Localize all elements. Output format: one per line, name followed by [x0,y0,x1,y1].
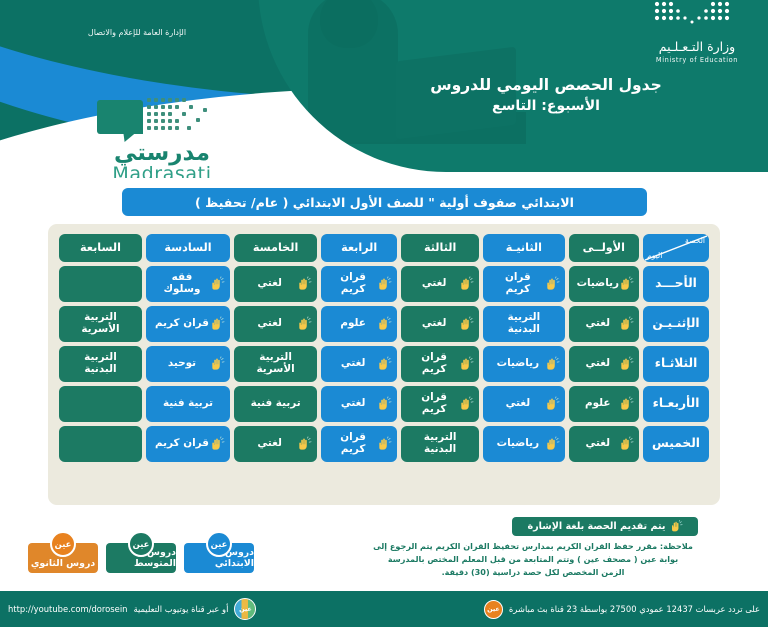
sign-language-hand-icon [619,317,634,332]
subject-cell: لغتي [569,306,639,342]
sign-language-hand-icon [210,357,225,372]
ein-channel-button-1[interactable]: عيندروس الابتدائي [184,543,254,573]
subject-cell: التربية البدنية [401,426,479,462]
sign-language-hand-icon [619,437,634,452]
subject-label: التربية الأسرية [239,352,312,375]
subject-cell: تربية فنية [234,386,317,422]
madrasati-name-en: Madrasati [72,165,252,178]
subject-label: علوم [337,318,380,330]
period-header-6: السادسة [146,234,230,262]
day-cell-1: الأحـــد [643,266,709,302]
subject-cell: رياضيات [569,266,639,302]
subject-label: لغتي [419,278,462,290]
subject-cell: التربية الأسرية [59,306,142,342]
subject-cell: علوم [321,306,397,342]
empty-cell [59,266,142,302]
schedule-card: الحصةاليومالأولــىالثانيـةالثالثةالرابعة… [48,224,720,505]
subject-cell: قران كريم [401,386,479,422]
subject-cell: لغتي [234,266,317,302]
day-cell-3: الثلاثـاء [643,346,709,382]
subject-label: لغتي [338,358,381,370]
subject-cell: تربية فنية [146,386,230,422]
period-header-7: السابعة [59,234,142,262]
subject-cell: قران كريم [321,426,397,462]
corner-period-label: الحصة [685,234,705,247]
ein-channel-button-3[interactable]: عيندروس الثانوي [28,543,98,573]
ein-channel-button-2[interactable]: عيندروس المتوسط [106,543,176,573]
sign-language-hand-icon [459,317,474,332]
sign-language-note-text: يتم تقديم الحصة بلغة الإشارة [527,521,665,532]
table-row: الأربعـاءعلوملغتيقران كريملغتيتربية فنية… [59,386,709,422]
sign-language-hand-icon [545,397,560,412]
period-header-4: الرابعة [321,234,397,262]
sign-language-hand-icon [377,397,392,412]
ministry-name-ar: وزارة التـعـلـيم [642,40,752,54]
table-row: الإثنـيـنلغتيالتربية البدنيةلغتيعلوملغتي… [59,306,709,342]
week-label: الأسبوع: التاسع [346,96,746,116]
subject-cell: فقه وسلوك [146,266,230,302]
subject-cell: التربية البدنية [483,306,564,342]
subject-cell: التربية الأسرية [234,346,317,382]
subject-cell: قران كريم [483,266,564,302]
ein-badge-icon: عين [128,531,154,557]
subject-cell: رياضيات [483,346,564,382]
subject-label: لغتي [419,318,462,330]
subject-cell: قران كريم [321,266,397,302]
subject-cell: لغتي [234,306,317,342]
bottom-bar: على تردد عربسات 12437 عمودي 27500 بواسطة… [0,591,768,627]
subject-label: تربية فنية [160,398,216,410]
schedule-table-body: الأحـــدرياضياتقران كريملغتيقران كريملغت… [59,266,709,462]
sign-language-hand-icon [545,357,560,372]
subject-cell: قران كريم [146,426,230,462]
sign-language-note-pill: يتم تقديم الحصة بلغة الإشارة [512,517,698,536]
day-cell-5: الخميس [643,426,709,462]
day-cell-4: الأربعـاء [643,386,709,422]
period-header-1: الأولــى [569,234,639,262]
sign-language-hand-icon [459,357,474,372]
subject-label: توحيد [165,358,211,370]
satellite-info-text: على تردد عربسات 12437 عمودي 27500 بواسطة… [509,604,760,614]
table-corner-cell: الحصةاليوم [643,234,709,262]
ministry-of-education-logo: وزارة التـعـلـيم Ministry of Education [642,0,752,64]
sign-language-hand-icon [619,397,634,412]
sign-language-hand-icon [297,317,312,332]
youtube-info-text: أو عبر قناة يوتيوب التعليمية [133,604,228,614]
sign-language-hand-icon [377,277,392,292]
ein-badge-icon: عين [206,531,232,557]
sign-language-hand-icon [297,277,312,292]
ein-button-label: دروس الثانوي [31,558,95,569]
corner-day-label: اليوم [647,249,662,262]
subject-cell: لغتي [234,426,317,462]
subject-cell: لغتي [401,306,479,342]
subject-cell: علوم [569,386,639,422]
sign-language-hand-icon [377,317,392,332]
subject-label: لغتي [254,318,297,330]
sign-language-hand-icon [619,277,634,292]
subject-cell: لغتي [569,426,639,462]
youtube-link[interactable]: http://youtube.com/dorosein [8,604,127,614]
subject-label: التربية البدنية [64,352,137,375]
subject-label: التربية البدنية [488,312,559,335]
subject-cell: لغتي [321,346,397,382]
madrasati-name-ar: مدرستي [72,141,252,165]
page-header: وزارة التـعـلـيم Ministry of Education ج… [0,0,768,178]
sign-language-hand-icon [210,317,225,332]
subject-cell: قران كريم [146,306,230,342]
period-header-3: الثالثة [401,234,479,262]
empty-cell [59,426,142,462]
subject-cell: توحيد [146,346,230,382]
subject-label: التربية الأسرية [64,312,137,335]
subject-cell: التربية البدنية [59,346,142,382]
sign-language-hand-icon [377,357,392,372]
sign-language-hand-icon [459,277,474,292]
schedule-table-head: الحصةاليومالأولــىالثانيـةالثالثةالرابعة… [59,234,709,262]
ein-orange-badge-icon: عين [484,600,503,619]
subject-cell: لغتي [569,346,639,382]
page-title: جدول الحصص اليومي للدروس [346,74,746,96]
sign-language-hand-icon [545,437,560,452]
sign-language-hand-icon [377,437,392,452]
sign-language-hand-icon [459,397,474,412]
madrasati-logo: مدرستي Madrasati [72,96,252,178]
table-row: الأحـــدرياضياتقران كريملغتيقران كريملغت… [59,266,709,302]
youtube-info: عين أو عبر قناة يوتيوب التعليمية http://… [8,591,256,627]
media-department-mark: الإدارة العامة للإعلام والاتصال [74,22,200,44]
ein-channel-buttons: عيندروس الابتدائيعيندروس المتوسطعيندروس … [14,529,254,577]
sign-language-hand-icon [210,437,225,452]
subject-label: تربية فنية [248,398,304,410]
table-row: الخميسلغتيرياضياتالتربية البدنيةقران كري… [59,426,709,462]
period-header-5: الخامسة [234,234,317,262]
moe-emblem-icon [651,0,743,32]
sign-language-hand-icon [545,277,560,292]
subject-label: لغتي [338,398,381,410]
sign-language-hand-icon [210,277,225,292]
subject-label: لغتي [254,438,297,450]
table-row: الثلاثـاءلغتيرياضياتقران كريملغتيالتربية… [59,346,709,382]
madrasati-mark-icon [97,96,227,140]
footnote-line-1: ملاحظة: مقرر حفظ القران الكريم بمدارس تح… [368,540,698,553]
empty-cell [59,386,142,422]
subject-cell: لغتي [321,386,397,422]
ministry-name-en: Ministry of Education [642,56,752,64]
period-header-row: الحصةاليومالأولــىالثانيـةالثالثةالرابعة… [59,234,709,262]
subject-label: التربية البدنية [406,432,474,455]
subject-cell: لغتي [401,266,479,302]
footnote-block: ملاحظة: مقرر حفظ القران الكريم بمدارس تح… [368,540,698,579]
sign-language-hand-icon [619,357,634,372]
ein-logo-icon: عين [234,598,256,620]
subject-cell: قران كريم [401,346,479,382]
period-header-2: الثانيـة [483,234,564,262]
sign-language-hand-icon [670,520,683,533]
subject-cell: لغتي [483,386,564,422]
ein-badge-icon: عين [50,531,76,557]
grade-subtitle-banner: الابتدائي صفوف أولية " للصف الأول الابتد… [122,188,647,216]
footnote-line-3: الزمن المخصص لكل حصة دراسية (30) دقيقة. [368,566,698,579]
subject-label: لغتي [503,398,546,410]
subject-cell: رياضيات [483,426,564,462]
student-photo [276,0,526,144]
satellite-info: على تردد عربسات 12437 عمودي 27500 بواسطة… [484,591,760,627]
schedule-poster: وزارة التـعـلـيم Ministry of Education ج… [0,0,768,627]
day-cell-2: الإثنـيـن [643,306,709,342]
header-titles: جدول الحصص اليومي للدروس الأسبوع: التاسع [346,74,746,117]
schedule-table: الحصةاليومالأولــىالثانيـةالثالثةالرابعة… [55,230,713,466]
sign-language-hand-icon [297,437,312,452]
subject-label: لغتي [254,278,297,290]
footnote-line-2: بوابة عين ( مصحف عين ) وتتم المتابعة من … [368,553,698,566]
